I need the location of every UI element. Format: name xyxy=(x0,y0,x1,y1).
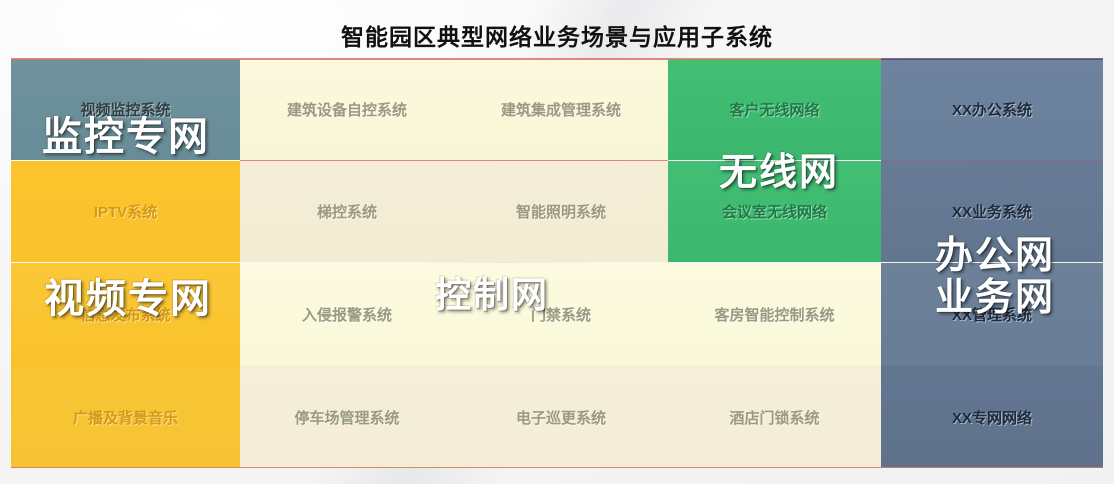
grid-top-rule-right xyxy=(881,58,1103,60)
cell-label: XX专网网络 xyxy=(952,407,1032,428)
cell-label: XX办公系统 xyxy=(952,99,1032,120)
cell-label: 广播及背景音乐 xyxy=(73,407,178,428)
cell-parking-management[interactable]: 停车场管理系统 xyxy=(240,366,454,468)
cell-building-integration[interactable]: 建筑集成管理系统 xyxy=(454,59,668,160)
cell-label: 入侵报警系统 xyxy=(302,304,392,325)
row-separator-1-right xyxy=(881,160,1103,161)
overlay-label: 无线网 xyxy=(719,152,839,194)
cell-private-network[interactable]: XX专网网络 xyxy=(881,366,1103,468)
overlay-business-network: 业务网 xyxy=(935,266,1055,321)
cell-label: 客房智能控制系统 xyxy=(714,304,834,325)
cell-elevator-control[interactable]: 梯控系统 xyxy=(240,161,454,262)
overlay-label: 监控专网 xyxy=(42,115,210,159)
cell-label: 酒店门锁系统 xyxy=(729,407,819,428)
cell-label: 会议室无线网络 xyxy=(722,201,827,222)
overlay-video-network: 视频专网 xyxy=(44,266,212,324)
cell-broadcast-music[interactable]: 广播及背景音乐 xyxy=(11,366,240,468)
cell-label: 停车场管理系统 xyxy=(294,407,399,428)
cell-label: 梯控系统 xyxy=(317,201,377,222)
cell-label: 客户无线网络 xyxy=(729,99,819,120)
row-separator-1 xyxy=(240,160,668,161)
overlay-label: 控制网 xyxy=(435,274,549,315)
cell-label: 智能照明系统 xyxy=(516,201,606,222)
cell-office-system[interactable]: XX办公系统 xyxy=(881,59,1103,160)
cell-intrusion-alarm[interactable]: 入侵报警系统 xyxy=(240,263,454,366)
cell-building-automation[interactable]: 建筑设备自控系统 xyxy=(240,59,454,160)
cell-label: 建筑设备自控系统 xyxy=(287,99,407,120)
cell-label: IPTV系统 xyxy=(94,201,157,222)
cell-guestroom-control[interactable]: 客房智能控制系统 xyxy=(668,263,881,366)
page-title: 智能园区典型网络业务场景与应用子系统 xyxy=(0,18,1114,52)
cell-electronic-patrol[interactable]: 电子巡更系统 xyxy=(454,366,668,468)
cell-label: 建筑集成管理系统 xyxy=(501,99,621,120)
overlay-label: 视频专网 xyxy=(44,277,212,321)
grid-top-rule xyxy=(11,58,881,60)
cell-label: 电子巡更系统 xyxy=(516,407,606,428)
cell-smart-lighting[interactable]: 智能照明系统 xyxy=(454,161,668,262)
cell-label: XX业务系统 xyxy=(952,201,1032,222)
overlay-label: 业务网 xyxy=(935,277,1055,319)
overlay-monitoring-network: 监控专网 xyxy=(42,104,210,162)
cell-hotel-door-lock[interactable]: 酒店门锁系统 xyxy=(668,366,881,468)
overlay-control-network: 控制网 xyxy=(435,266,549,318)
overlay-wireless-network: 无线网 xyxy=(719,141,839,196)
cell-iptv[interactable]: IPTV系统 xyxy=(11,161,240,262)
grid-bottom-rule xyxy=(11,467,1103,468)
